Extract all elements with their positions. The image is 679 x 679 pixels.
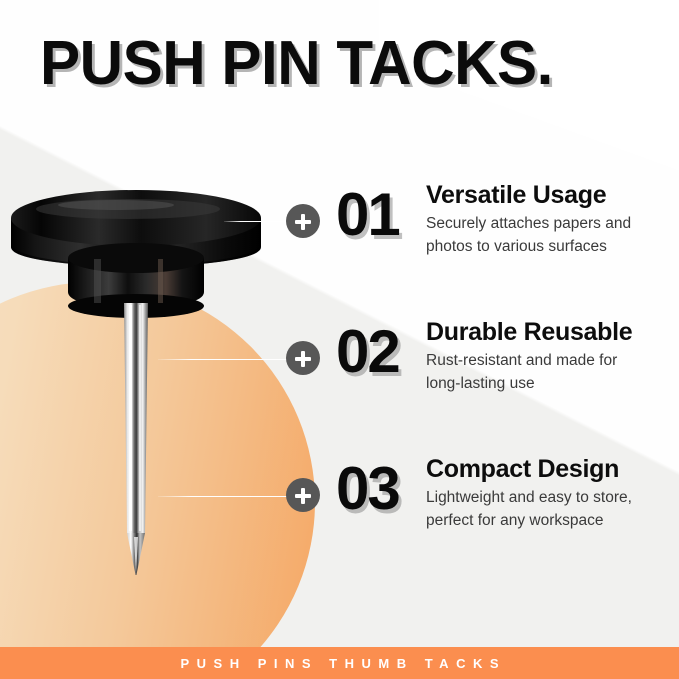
feature-description-line: Lightweight and easy to store, <box>426 486 679 509</box>
connector-line-1 <box>224 221 290 222</box>
feature-number: 03 <box>336 460 422 518</box>
plus-icon[interactable] <box>286 341 320 375</box>
connector-line-3 <box>158 496 290 497</box>
feature-description-line: long-lasting use <box>426 372 679 395</box>
feature-description: Securely attaches papers and photos to v… <box>426 212 679 258</box>
feature-description: Rust-resistant and made for long-lasting… <box>426 349 679 395</box>
feature-text-block: Durable Reusable Rust-resistant and made… <box>426 315 679 395</box>
page-title: PUSH PIN TACKS. <box>40 33 553 95</box>
feature-heading: Durable Reusable <box>426 317 679 347</box>
feature-number: 02 <box>336 323 422 381</box>
feature-item-03: 03 Compact Design Lightweight and easy t… <box>286 452 679 532</box>
feature-description-line: Securely attaches papers and <box>426 212 679 235</box>
feature-number: 01 <box>336 186 422 244</box>
connector-line-2 <box>158 359 290 360</box>
feature-item-01: 01 Versatile Usage Securely attaches pap… <box>286 178 679 258</box>
feature-text-block: Compact Design Lightweight and easy to s… <box>426 452 679 532</box>
feature-heading: Versatile Usage <box>426 180 679 210</box>
plus-icon[interactable] <box>286 478 320 512</box>
feature-description-line: photos to various surfaces <box>426 235 679 258</box>
feature-description-line: perfect for any workspace <box>426 509 679 532</box>
infographic-canvas: PUSH PIN TACKS. <box>0 0 679 679</box>
feature-description-line: Rust-resistant and made for <box>426 349 679 372</box>
product-image-push-pin <box>8 185 268 575</box>
footer-banner: PUSH PINS THUMB TACKS <box>0 647 679 679</box>
footer-banner-text: PUSH PINS THUMB TACKS <box>173 656 506 671</box>
feature-item-02: 02 Durable Reusable Rust-resistant and m… <box>286 315 679 395</box>
feature-text-block: Versatile Usage Securely attaches papers… <box>426 178 679 258</box>
feature-description: Lightweight and easy to store, perfect f… <box>426 486 679 532</box>
plus-icon[interactable] <box>286 204 320 238</box>
feature-heading: Compact Design <box>426 454 679 484</box>
